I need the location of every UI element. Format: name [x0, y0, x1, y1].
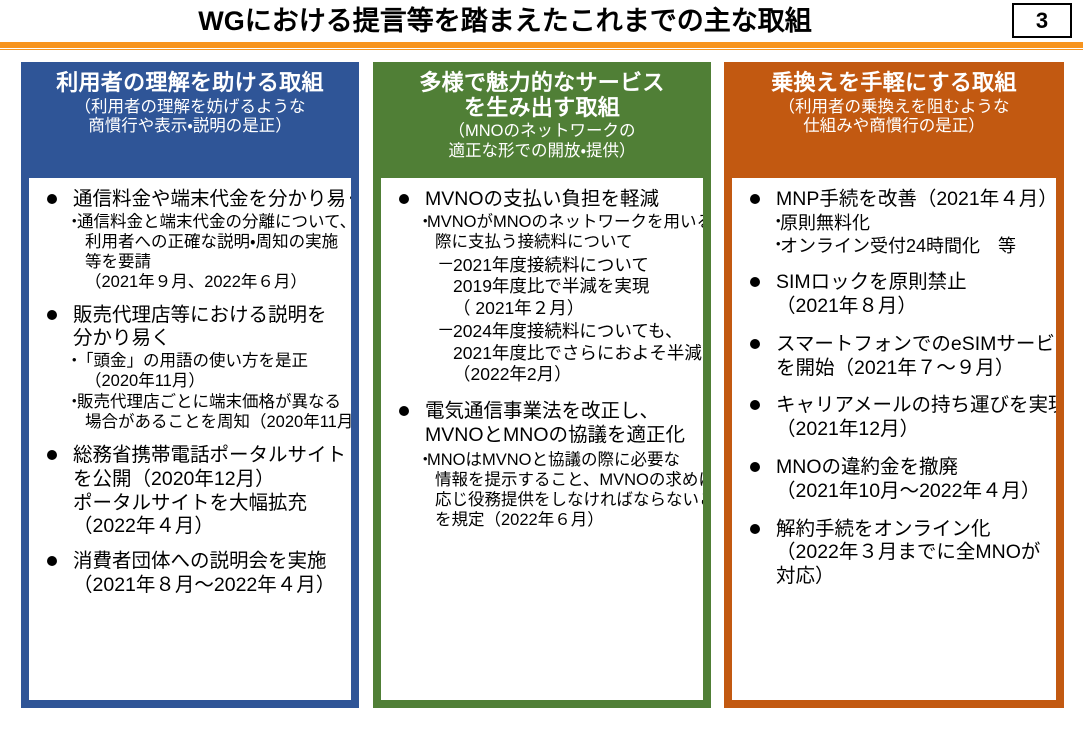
bullet-level-1: MNP手続を改善（2021年４月）	[736, 188, 1052, 212]
bullet-line: 電気通信事業法を改正し、	[425, 400, 699, 424]
middot-icon: ・	[770, 236, 787, 256]
bullet-text: 電気通信事業法を改正し、 MVNOとMNOの協議を適正化	[425, 400, 699, 448]
list-item: MVNOの支払い負担を軽減 ・ MVNOがMNOのネットワークを用いる 際に支払…	[385, 188, 699, 386]
bullet-line: ポータルサイトを大幅拡充	[73, 492, 347, 516]
bullet-dot-icon	[399, 194, 409, 204]
bullet-level-2: ・ 原則無料化	[736, 213, 1052, 235]
sub-text: 「頭金」の用語の使い方を是正 （2020年11月）	[77, 352, 347, 392]
bullet-level-2: ・ MNOはMVNOと協議の際に必要な 情報を提示すること、MVNOの求めに 応…	[385, 451, 699, 531]
bullet-text: 総務省携帯電話ポータルサイト を公開（2020年12月） ポータルサイトを大幅拡…	[73, 444, 347, 539]
sub-line: 場合があることを周知（2020年11月）	[77, 413, 347, 433]
sub-line: 応じ役務提供をしなければならないこと	[427, 491, 699, 511]
bullet-line: （2021年８月～2022年４月）	[73, 574, 347, 598]
list-item: 総務省携帯電話ポータルサイト を公開（2020年12月） ポータルサイトを大幅拡…	[33, 444, 347, 539]
dash-line: （ 2021年２月）	[453, 298, 699, 320]
bullet-dot-icon	[750, 277, 760, 287]
column-2-title-line-2: を生み出す取組	[379, 96, 705, 121]
slide-root: WGにおける提言等を踏まえたこれまでの主な取組 3 利用者の理解を助ける取組 （…	[0, 0, 1083, 750]
middot-icon: ・	[66, 213, 83, 233]
bullet-line: スマートフォンでのeSIMサービス	[776, 333, 1052, 357]
sub-line: オンライン受付24時間化 等	[780, 236, 1052, 258]
column-2-title: 多様で魅力的なサービス を生み出す取組	[379, 71, 705, 120]
column-2-title-line-1: 多様で魅力的なサービス	[379, 71, 705, 96]
bullet-line: （2021年８月）	[776, 295, 1052, 319]
bullet-text: キャリアメールの持ち運びを実現 （2021年12月）	[776, 394, 1052, 442]
bullet-level-1: 消費者団体への説明会を実施 （2021年８月～2022年４月）	[33, 550, 347, 598]
list-item: SIMロックを原則禁止 （2021年８月）	[736, 271, 1052, 319]
column-3-subtitle: （利用者の乗換えを阻むような 仕組みや商慣行の是正）	[730, 98, 1058, 137]
middot-icon: ・	[770, 213, 787, 233]
bullet-dot-icon	[47, 310, 57, 320]
bullet-text: スマートフォンでのeSIMサービス を開始（2021年７～９月）	[776, 333, 1052, 381]
bullet-line: キャリアメールの持ち運びを実現	[776, 394, 1052, 418]
bullet-level-1: 解約手続をオンライン化 （2022年３月までに全MNOが 対応）	[736, 518, 1052, 589]
column-easy-switching: 乗換えを手軽にする取組 （利用者の乗換えを阻むような 仕組みや商慣行の是正） M…	[724, 62, 1064, 708]
bullet-text: MNP手続を改善（2021年４月）	[776, 188, 1052, 212]
list-item: 販売代理店等における説明を 分かり易く ・ 「頭金」の用語の使い方を是正 （20…	[33, 304, 347, 433]
list-item: MNOの違約金を撤廃 （2021年10月～2022年４月）	[736, 456, 1052, 504]
bullet-dot-icon	[750, 400, 760, 410]
column-3-header: 乗換えを手軽にする取組 （利用者の乗換えを阻むような 仕組みや商慣行の是正）	[724, 62, 1064, 145]
middot-icon: ・	[417, 213, 434, 233]
bullet-line: を開始（2021年７～９月）	[776, 357, 1052, 381]
sub-line: 利用者への正確な説明・周知の実施	[77, 233, 347, 253]
bullet-level-1: MVNOの支払い負担を軽減	[385, 188, 699, 212]
bullet-line: 解約手続をオンライン化	[776, 518, 1052, 542]
dash-line: 2021年度比でさらにおよそ半減	[453, 343, 699, 365]
middot-icon: ・	[66, 393, 83, 413]
sub-line: 原則無料化	[780, 213, 1052, 235]
bullet-line: （2021年10月～2022年４月）	[776, 480, 1052, 504]
bullet-level-1: 通信料金や端末代金を分かり易く	[33, 188, 347, 212]
bullet-line: （2022年３月までに全MNOが	[776, 541, 1052, 565]
column-diverse-services: 多様で魅力的なサービス を生み出す取組 （MNOのネットワークの 適正な形での開…	[373, 62, 711, 708]
column-2-header: 多様で魅力的なサービス を生み出す取組 （MNOのネットワークの 適正な形での開…	[373, 62, 711, 169]
bullet-level-1: 販売代理店等における説明を 分かり易く	[33, 304, 347, 352]
header-divider-thin	[0, 49, 1083, 50]
bullet-line: 通信料金や端末代金を分かり易く	[73, 188, 347, 212]
bullet-line: MVNOの支払い負担を軽減	[425, 188, 699, 212]
bullet-text: 解約手続をオンライン化 （2022年３月までに全MNOが 対応）	[776, 518, 1052, 589]
bullet-line: を公開（2020年12月）	[73, 468, 347, 492]
list-item: 電気通信事業法を改正し、 MVNOとMNOの協議を適正化 ・ MNOはMVNOと…	[385, 400, 699, 531]
bullet-line: SIMロックを原則禁止	[776, 271, 1052, 295]
column-2-subtitle-line-1: （MNOのネットワークの	[379, 122, 705, 141]
bullet-level-1: スマートフォンでのeSIMサービス を開始（2021年７～９月）	[736, 333, 1052, 381]
bullet-level-1: MNOの違約金を撤廃 （2021年10月～2022年４月）	[736, 456, 1052, 504]
bullet-level-2: ・ 通信料金と端末代金の分離について、 利用者への正確な説明・周知の実施 等を要…	[33, 213, 347, 293]
sub-line: MNOはMVNOと協議の際に必要な	[427, 451, 699, 471]
bullet-text: 通信料金や端末代金を分かり易く	[73, 188, 347, 212]
dash-line: 2019年度比で半減を実現	[453, 276, 699, 298]
bullet-dot-icon	[750, 194, 760, 204]
bullet-text: MVNOの支払い負担を軽減	[425, 188, 699, 212]
column-3-body: MNP手続を改善（2021年４月） ・ 原則無料化 ・ オンライン受付24時間化…	[732, 178, 1056, 700]
bullet-line: （2022年４月）	[73, 515, 347, 539]
sub-line: 通信料金と端末代金の分離について、	[77, 213, 347, 233]
sub-text: MVNOがMNOのネットワークを用いる 際に支払う接続料について	[427, 213, 699, 253]
bullet-level-2: ・ オンライン受付24時間化 等	[736, 236, 1052, 258]
bullet-line: 消費者団体への説明会を実施	[73, 550, 347, 574]
list-item: MNP手続を改善（2021年４月） ・ 原則無料化 ・ オンライン受付24時間化…	[736, 188, 1052, 257]
bullet-dot-icon	[750, 524, 760, 534]
sub-line: （2020年11月）	[77, 372, 347, 392]
page-title: WGにおける提言等を踏まえたこれまでの主な取組	[0, 1, 1010, 41]
list-item: キャリアメールの持ち運びを実現 （2021年12月）	[736, 394, 1052, 442]
bullet-level-1: 総務省携帯電話ポータルサイト を公開（2020年12月） ポータルサイトを大幅拡…	[33, 444, 347, 539]
column-2-subtitle: （MNOのネットワークの 適正な形での開放・提供）	[379, 122, 705, 161]
dash-line: （2022年2月）	[453, 364, 699, 386]
bullet-dot-icon	[47, 556, 57, 566]
columns-container: 利用者の理解を助ける取組 （利用者の理解を妨げるような 商慣行や表示・説明の是正…	[0, 62, 1083, 750]
bullet-dot-icon	[750, 462, 760, 472]
sub-line: 等を要請	[77, 253, 347, 273]
sub-line: MVNOがMNOのネットワークを用いる	[427, 213, 699, 233]
bullet-text: MNOの違約金を撤廃 （2021年10月～2022年４月）	[776, 456, 1052, 504]
column-1-header: 利用者の理解を助ける取組 （利用者の理解を妨げるような 商慣行や表示・説明の是正…	[21, 62, 359, 145]
sub-line: 情報を提示すること、MVNOの求めに	[427, 471, 699, 491]
list-item: 解約手続をオンライン化 （2022年３月までに全MNOが 対応）	[736, 518, 1052, 589]
page-number-badge: 3	[1012, 3, 1072, 38]
bullet-level-1: 電気通信事業法を改正し、 MVNOとMNOの協議を適正化	[385, 400, 699, 448]
bullet-line: MNOの違約金を撤廃	[776, 456, 1052, 480]
sub-line: を規定（2022年６月）	[427, 511, 699, 531]
bullet-line: （2021年12月）	[776, 418, 1052, 442]
dash-text: 2021年度接続料について 2019年度比で半減を実現 （ 2021年２月）	[453, 255, 699, 320]
bullet-line: MVNOとMNOの協議を適正化	[425, 424, 699, 448]
sub-text: MNOはMVNOと協議の際に必要な 情報を提示すること、MVNOの求めに 応じ役…	[427, 451, 699, 531]
sub-line: 際に支払う接続料について	[427, 233, 699, 253]
list-item: 通信料金や端末代金を分かり易く ・ 通信料金と端末代金の分離について、 利用者へ…	[33, 188, 347, 293]
bullet-line: 分かり易く	[73, 327, 347, 351]
bullet-dot-icon	[399, 406, 409, 416]
bullet-text: SIMロックを原則禁止 （2021年８月）	[776, 271, 1052, 319]
column-user-understanding: 利用者の理解を助ける取組 （利用者の理解を妨げるような 商慣行や表示・説明の是正…	[21, 62, 359, 708]
bullet-level-2: ・ 販売代理店ごとに端末価格が異なる 場合があることを周知（2020年11月）	[33, 393, 347, 433]
dash-line: 2021年度接続料について	[453, 255, 699, 277]
bullet-level-3: － 2024年度接続料についても、 2021年度比でさらにおよそ半減 （2022…	[385, 321, 699, 386]
slide-header: WGにおける提言等を踏まえたこれまでの主な取組 3	[0, 0, 1083, 42]
bullet-text: 販売代理店等における説明を 分かり易く	[73, 304, 347, 352]
bullet-level-1: SIMロックを原則禁止 （2021年８月）	[736, 271, 1052, 319]
column-1-subtitle-line-1: （利用者の理解を妨げるような	[27, 98, 353, 117]
bullet-level-3: － 2021年度接続料について 2019年度比で半減を実現 （ 2021年２月）	[385, 255, 699, 320]
column-3-subtitle-line-2: 仕組みや商慣行の是正）	[730, 117, 1058, 136]
column-2-subtitle-line-2: 適正な形での開放・提供）	[379, 142, 705, 161]
column-1-subtitle: （利用者の理解を妨げるような 商慣行や表示・説明の是正）	[27, 98, 353, 137]
bullet-level-2: ・ 「頭金」の用語の使い方を是正 （2020年11月）	[33, 352, 347, 392]
middot-icon: ・	[66, 352, 83, 372]
bullet-dot-icon	[750, 339, 760, 349]
dash-icon: －	[437, 254, 455, 276]
sub-line: 販売代理店ごとに端末価格が異なる	[77, 393, 347, 413]
bullet-dot-icon	[47, 194, 57, 204]
column-3-title: 乗換えを手軽にする取組	[730, 71, 1058, 96]
bullet-level-1: キャリアメールの持ち運びを実現 （2021年12月）	[736, 394, 1052, 442]
column-1-title: 利用者の理解を助ける取組	[27, 71, 353, 96]
dash-text: 2024年度接続料についても、 2021年度比でさらにおよそ半減 （2022年2…	[453, 321, 699, 386]
bullet-line: 総務省携帯電話ポータルサイト	[73, 444, 347, 468]
bullet-line: MNP手続を改善（2021年４月）	[776, 188, 1052, 212]
bullet-level-2: ・ MVNOがMNOのネットワークを用いる 際に支払う接続料について	[385, 213, 699, 253]
bullet-line: 対応）	[776, 565, 1052, 589]
column-1-body: 通信料金や端末代金を分かり易く ・ 通信料金と端末代金の分離について、 利用者へ…	[29, 178, 351, 700]
header-divider-thick	[0, 42, 1083, 48]
dash-line: 2024年度接続料についても、	[453, 321, 699, 343]
middot-icon: ・	[417, 451, 434, 471]
column-2-body: MVNOの支払い負担を軽減 ・ MVNOがMNOのネットワークを用いる 際に支払…	[381, 178, 703, 700]
bullet-text: 消費者団体への説明会を実施 （2021年８月～2022年４月）	[73, 550, 347, 598]
column-1-subtitle-line-2: 商慣行や表示・説明の是正）	[27, 117, 353, 136]
sub-text: オンライン受付24時間化 等	[780, 236, 1052, 258]
list-item: スマートフォンでのeSIMサービス を開始（2021年７～９月）	[736, 333, 1052, 381]
sub-line: 「頭金」の用語の使い方を是正	[77, 352, 347, 372]
sub-text: 販売代理店ごとに端末価格が異なる 場合があることを周知（2020年11月）	[77, 393, 347, 433]
dash-icon: －	[437, 320, 455, 342]
list-item: 消費者団体への説明会を実施 （2021年８月～2022年４月）	[33, 550, 347, 598]
column-3-subtitle-line-1: （利用者の乗換えを阻むような	[730, 98, 1058, 117]
bullet-dot-icon	[47, 450, 57, 460]
bullet-line: 販売代理店等における説明を	[73, 304, 347, 328]
sub-line: （2021年９月、2022年６月）	[77, 273, 347, 293]
sub-text: 通信料金と端末代金の分離について、 利用者への正確な説明・周知の実施 等を要請 …	[77, 213, 347, 293]
sub-text: 原則無料化	[780, 213, 1052, 235]
